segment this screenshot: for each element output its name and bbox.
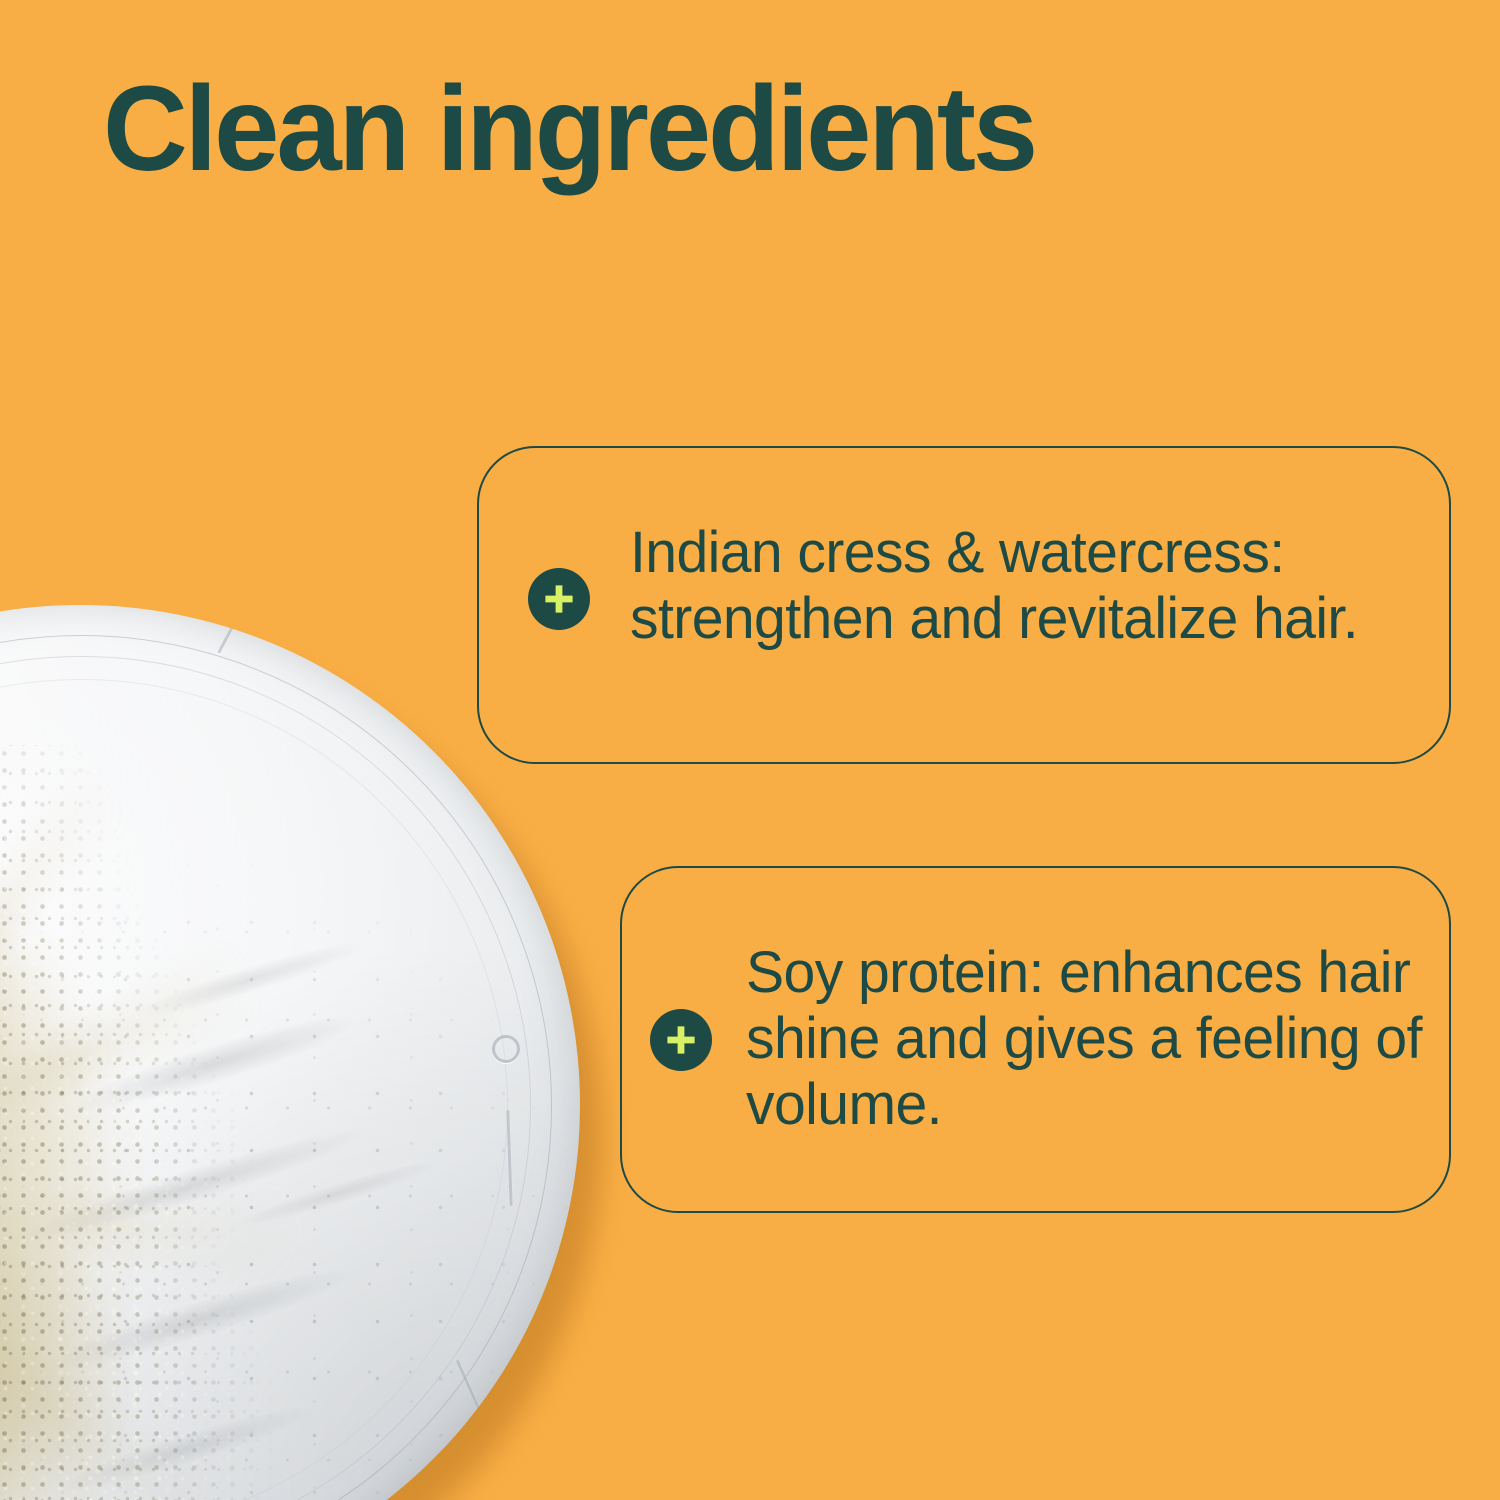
- benefit-card-text: Soy protein: enhances hair shine and giv…: [746, 940, 1436, 1138]
- dish-shadow: [0, 639, 602, 1500]
- dish-rim-tick: [456, 1360, 508, 1471]
- dish-rim-tick: [217, 622, 236, 653]
- powder-dust-streaks: [0, 745, 440, 1500]
- dish-embossed-mark: [492, 1035, 520, 1063]
- page-title: Clean ingredients: [103, 68, 1035, 189]
- dish-rim-tick: [506, 1110, 512, 1206]
- benefit-card-indian-cress: Indian cress & watercress: strengthen an…: [477, 446, 1451, 764]
- plus-icon: [650, 1009, 712, 1071]
- promo-graphic: Clean ingredients Indi: [0, 0, 1500, 1500]
- dish-rim-ring: [0, 635, 552, 1500]
- powder-heap: [0, 745, 360, 1500]
- benefit-card-soy-protein: Soy protein: enhances hair shine and giv…: [620, 866, 1451, 1213]
- dish-rim-ring: [0, 679, 508, 1500]
- benefit-card-text: Indian cress & watercress: strengthen an…: [630, 520, 1408, 652]
- plus-icon: [528, 568, 590, 630]
- powder-grain-texture: [0, 745, 360, 1500]
- powder-grain-highlight: [0, 745, 360, 1500]
- dish-rim-ring: [0, 656, 531, 1500]
